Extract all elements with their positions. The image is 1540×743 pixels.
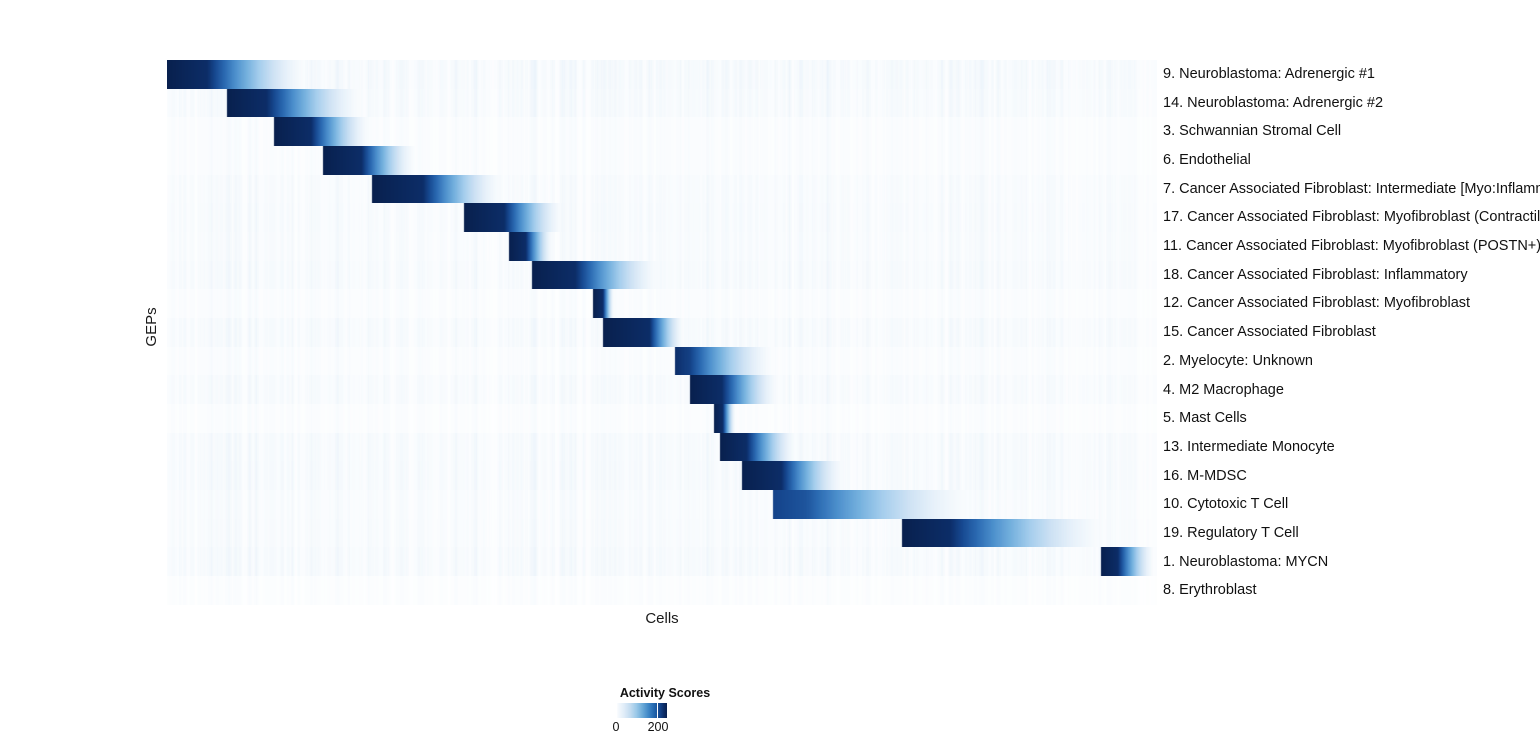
row-label: 8. Erythroblast [1163, 576, 1257, 605]
heatmap-row [167, 175, 1157, 204]
heatmap-row-canvas [167, 576, 1157, 605]
heatmap-figure: GEPs 9. Neuroblastoma: Adrenergic #114. … [0, 0, 1540, 743]
row-label: 11. Cancer Associated Fibroblast: Myofib… [1163, 232, 1540, 261]
heatmap-plot-area[interactable] [167, 60, 1157, 605]
row-label: 14. Neuroblastoma: Adrenergic #2 [1163, 89, 1383, 118]
row-label: 5. Mast Cells [1163, 404, 1247, 433]
row-label: 4. M2 Macrophage [1163, 376, 1284, 405]
heatmap-row [167, 433, 1157, 462]
heatmap-row [167, 404, 1157, 433]
row-label: 1. Neuroblastoma: MYCN [1163, 548, 1328, 577]
heatmap-row [167, 203, 1157, 232]
heatmap-row [167, 576, 1157, 605]
colorbar-gradient [616, 703, 667, 718]
colorbar-tick-label-0: 0 [606, 720, 626, 734]
heatmap-row-canvas [167, 318, 1157, 347]
heatmap-row-canvas [167, 232, 1157, 261]
heatmap-row [167, 89, 1157, 118]
heatmap-row-canvas [167, 261, 1157, 290]
row-label: 3. Schwannian Stromal Cell [1163, 117, 1341, 146]
row-label: 10. Cytotoxic T Cell [1163, 490, 1288, 519]
heatmap-row [167, 232, 1157, 261]
row-label: 7. Cancer Associated Fibroblast: Interme… [1163, 175, 1540, 204]
heatmap-row [167, 375, 1157, 404]
heatmap-row-canvas [167, 519, 1157, 548]
heatmap-row [167, 347, 1157, 376]
heatmap-row-canvas [167, 461, 1157, 490]
heatmap-row-canvas [167, 490, 1157, 519]
colorbar-title: Activity Scores [560, 686, 770, 700]
heatmap-row-canvas [167, 203, 1157, 232]
row-label: 16. M-MDSC [1163, 462, 1247, 491]
heatmap-row [167, 261, 1157, 290]
heatmap-row [167, 117, 1157, 146]
heatmap-row-canvas [167, 60, 1157, 89]
row-label: 2. Myelocyte: Unknown [1163, 347, 1313, 376]
row-label: 13. Intermediate Monocyte [1163, 433, 1335, 462]
heatmap-row-canvas [167, 347, 1157, 376]
heatmap-row-canvas [167, 375, 1157, 404]
heatmap-row-canvas [167, 117, 1157, 146]
row-label: 19. Regulatory T Cell [1163, 519, 1299, 548]
row-label: 15. Cancer Associated Fibroblast [1163, 318, 1376, 347]
heatmap-row [167, 461, 1157, 490]
row-label: 12. Cancer Associated Fibroblast: Myofib… [1163, 289, 1470, 318]
heatmap-row [167, 519, 1157, 548]
colorbar-tick-0 [616, 703, 617, 718]
row-label: 6. Endothelial [1163, 146, 1251, 175]
colorbar-tick-label-200: 200 [642, 720, 674, 734]
heatmap-row-canvas [167, 404, 1157, 433]
heatmap-row-canvas [167, 89, 1157, 118]
heatmap-row-canvas [167, 289, 1157, 318]
colorbar-tick-200 [657, 703, 658, 718]
heatmap-row [167, 289, 1157, 318]
heatmap-row-canvas [167, 146, 1157, 175]
colorbar-legend: Activity Scores 0 200 [560, 686, 820, 741]
heatmap-row [167, 547, 1157, 576]
heatmap-row-canvas [167, 433, 1157, 462]
row-label-list: 9. Neuroblastoma: Adrenergic #114. Neuro… [1163, 60, 1540, 605]
heatmap-row [167, 318, 1157, 347]
x-axis-title: Cells [167, 610, 1157, 627]
heatmap-row [167, 60, 1157, 89]
row-label: 17. Cancer Associated Fibroblast: Myofib… [1163, 203, 1540, 232]
row-label: 9. Neuroblastoma: Adrenergic #1 [1163, 60, 1375, 89]
heatmap-row [167, 490, 1157, 519]
heatmap-row [167, 146, 1157, 175]
heatmap-row-canvas [167, 175, 1157, 204]
heatmap-row-canvas [167, 547, 1157, 576]
row-label: 18. Cancer Associated Fibroblast: Inflam… [1163, 261, 1468, 290]
